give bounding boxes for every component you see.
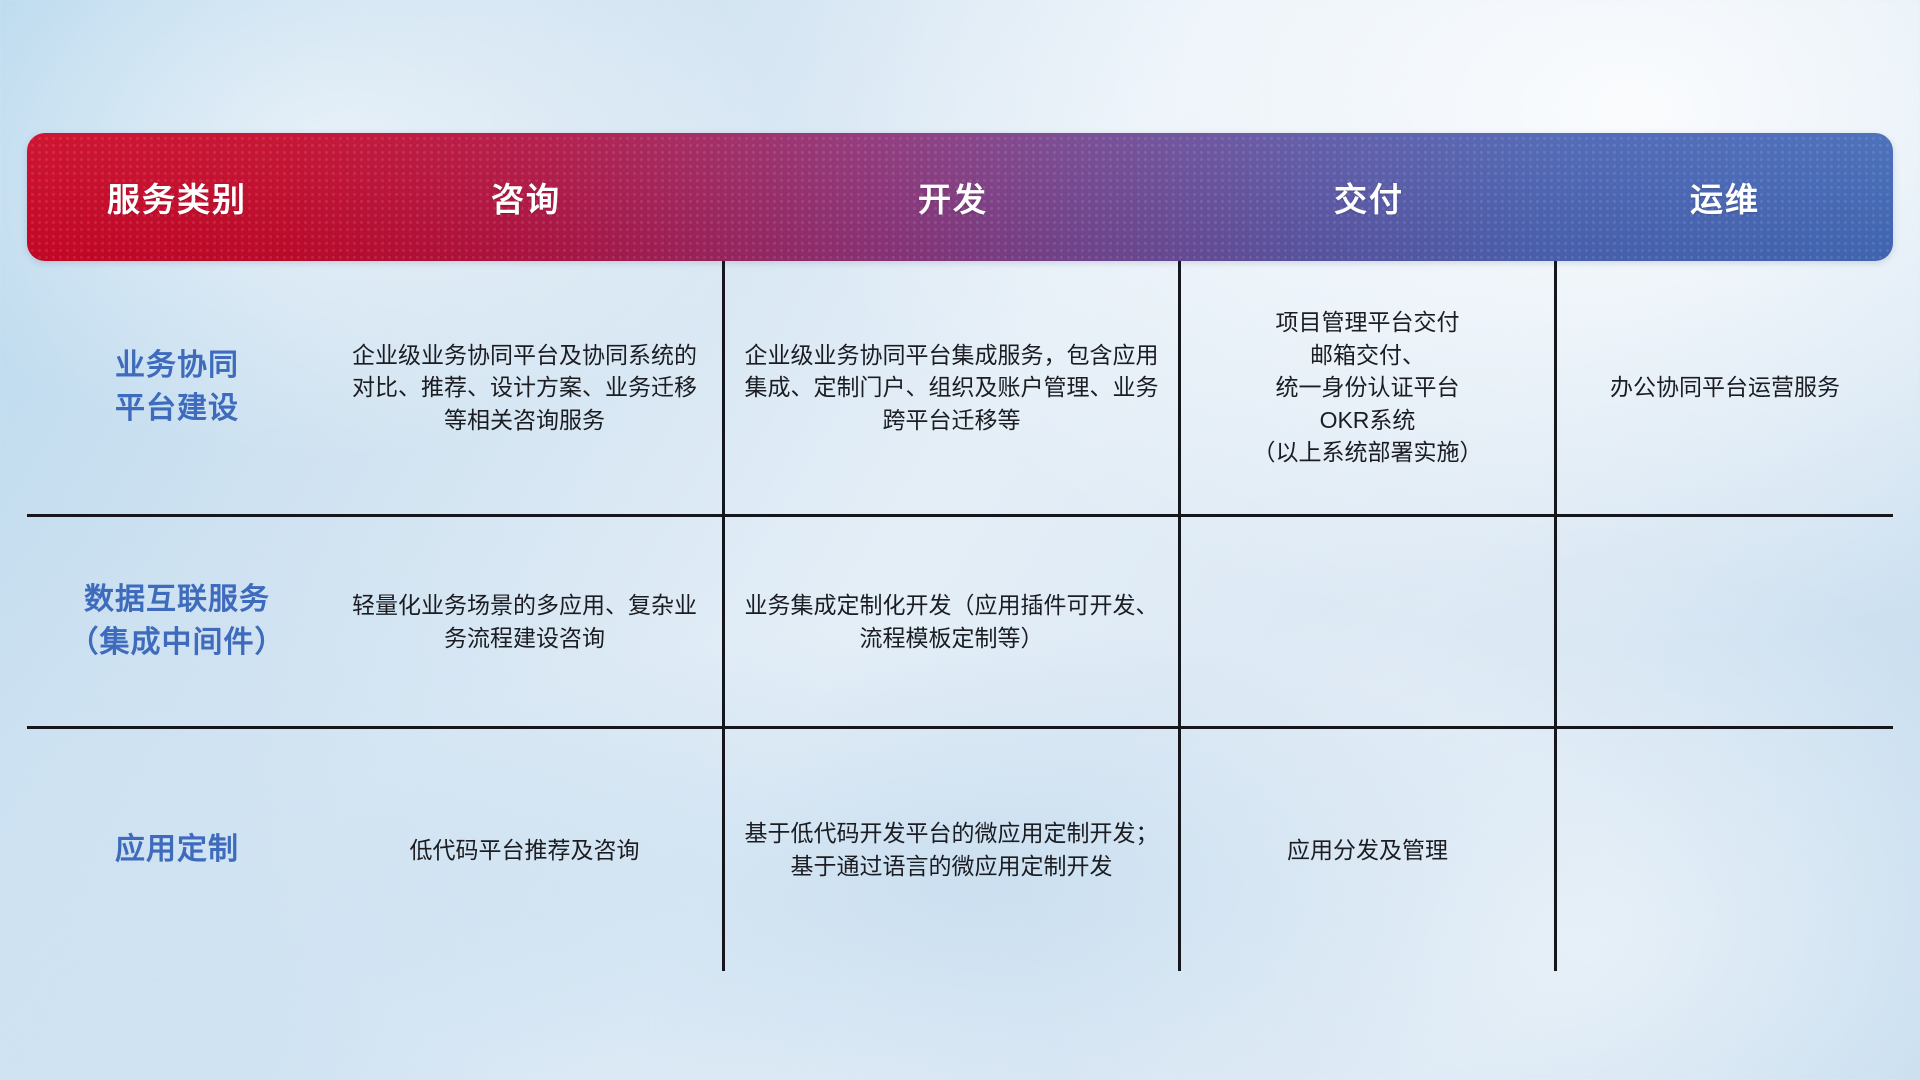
cell-delivery: 应用分发及管理	[1181, 729, 1557, 971]
table-row: 业务协同 平台建设 企业级业务协同平台及协同系统的对比、推荐、设计方案、业务迁移…	[27, 261, 1893, 517]
cell-operations	[1557, 517, 1893, 726]
cell-delivery	[1181, 517, 1557, 726]
cell-development: 业务集成定制化开发（应用插件可开发、流程模板定制等）	[725, 517, 1181, 726]
cell-operations	[1557, 729, 1893, 971]
cell-development: 企业级业务协同平台集成服务，包含应用集成、定制门户、组织及账户管理、业务跨平台迁…	[725, 261, 1181, 514]
table-row: 数据互联服务 （集成中间件） 轻量化业务场景的多应用、复杂业务流程建设咨询 业务…	[27, 517, 1893, 729]
column-header-development: 开发	[725, 173, 1181, 221]
cell-consulting: 低代码平台推荐及咨询	[327, 729, 725, 971]
table-body: 业务协同 平台建设 企业级业务协同平台及协同系统的对比、推荐、设计方案、业务迁移…	[27, 261, 1893, 971]
row-label-application-customization: 应用定制	[27, 729, 327, 971]
column-header-operations: 运维	[1557, 173, 1893, 221]
column-header-consulting: 咨询	[327, 173, 725, 221]
cell-development: 基于低代码开发平台的微应用定制开发； 基于通过语言的微应用定制开发	[725, 729, 1181, 971]
column-header-delivery: 交付	[1181, 173, 1557, 221]
column-header-service-category: 服务类别	[27, 173, 327, 221]
row-label-business-collaboration: 业务协同 平台建设	[27, 261, 327, 514]
cell-consulting: 轻量化业务场景的多应用、复杂业务流程建设咨询	[327, 517, 725, 726]
cell-delivery: 项目管理平台交付 邮箱交付、 统一身份认证平台 OKR系统 （以上系统部署实施）	[1181, 261, 1557, 514]
service-matrix-table: 服务类别 咨询 开发 交付 运维 业务协同 平台建设 企业级业务协同平台及协同系…	[27, 133, 1893, 971]
table-row: 应用定制 低代码平台推荐及咨询 基于低代码开发平台的微应用定制开发； 基于通过语…	[27, 729, 1893, 971]
row-label-data-interconnect: 数据互联服务 （集成中间件）	[27, 517, 327, 726]
cell-operations: 办公协同平台运营服务	[1557, 261, 1893, 514]
cell-consulting: 企业级业务协同平台及协同系统的对比、推荐、设计方案、业务迁移等相关咨询服务	[327, 261, 725, 514]
table-header-row: 服务类别 咨询 开发 交付 运维	[27, 133, 1893, 261]
